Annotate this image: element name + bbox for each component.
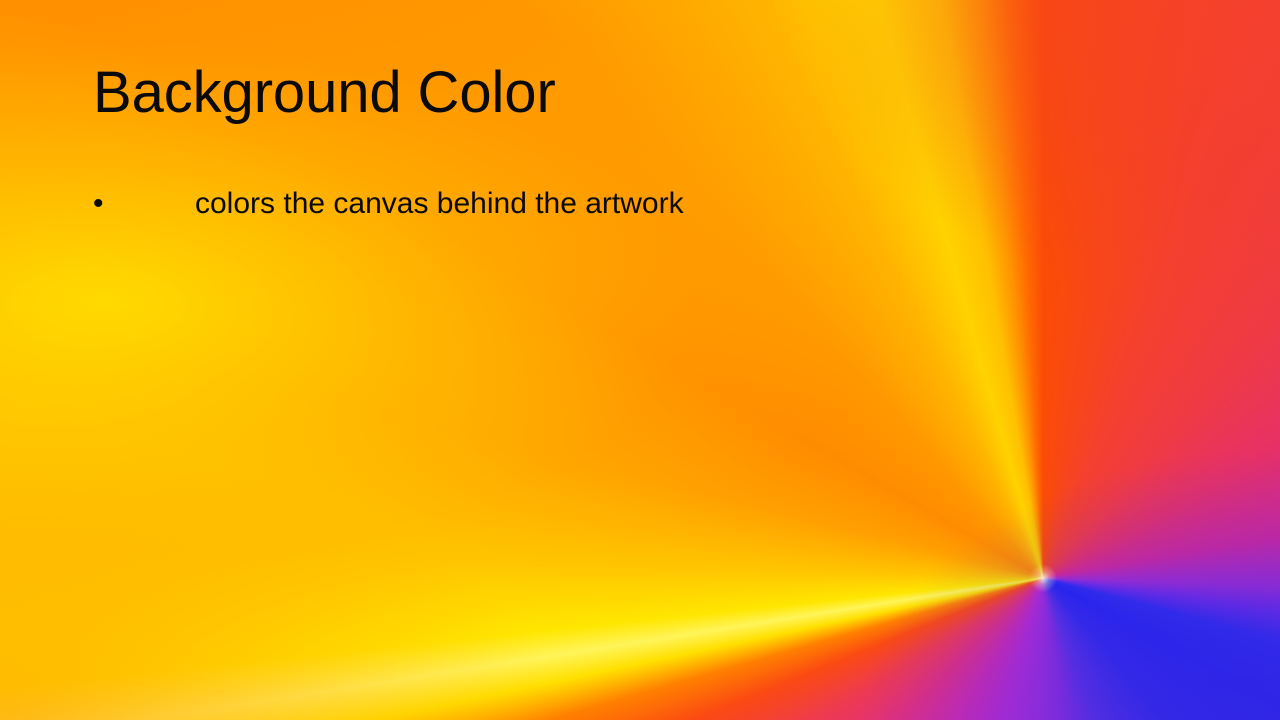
slide-content: Background Color • colors the canvas beh… [0, 0, 1280, 720]
slide-body-placeholder[interactable]: • colors the canvas behind the artwork [93, 185, 1183, 223]
slide-title-placeholder[interactable]: Background Color [93, 62, 1183, 148]
slide-title: Background Color [93, 62, 556, 125]
bullet-list: • colors the canvas behind the artwork [93, 185, 1183, 223]
bullet-point-icon: • [93, 185, 109, 223]
bullet-text: colors the canvas behind the artwork [195, 185, 684, 223]
slide: Background Color • colors the canvas beh… [0, 0, 1280, 720]
list-item[interactable]: • colors the canvas behind the artwork [93, 185, 1183, 223]
